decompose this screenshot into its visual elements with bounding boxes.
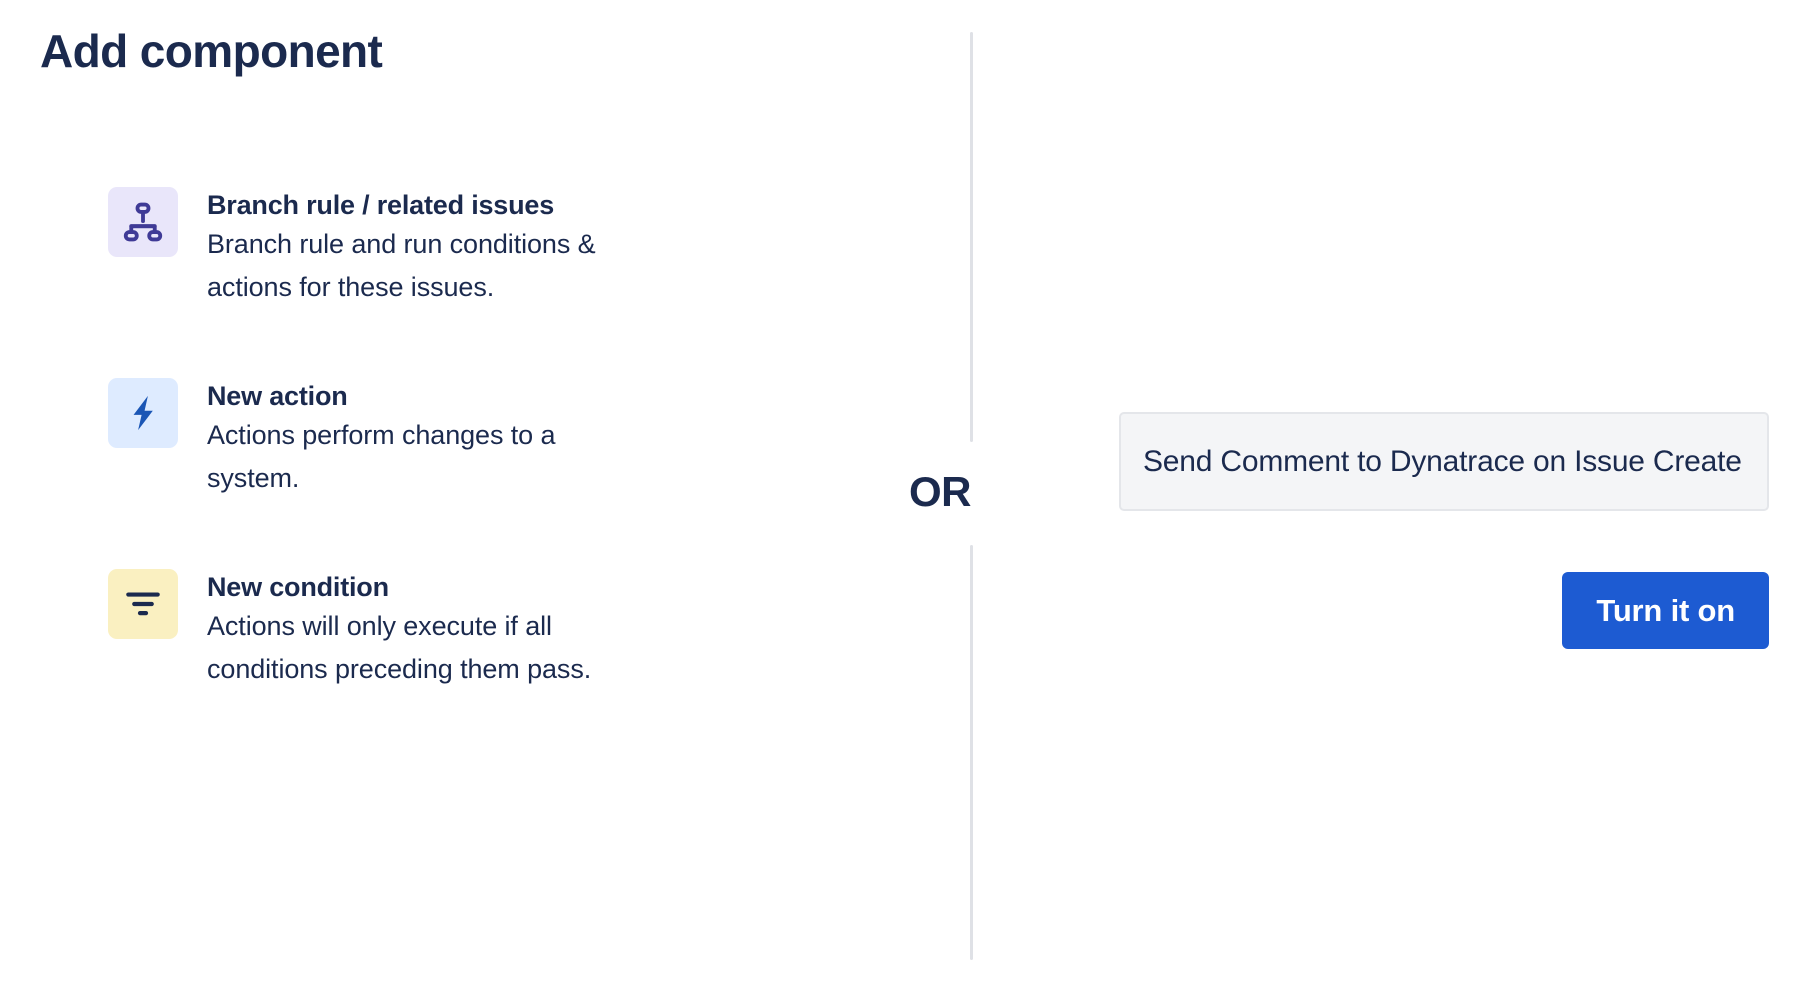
component-option-new-action[interactable]: New action Actions perform changes to a …	[108, 378, 728, 501]
component-option-description: Actions perform changes to a system.	[207, 414, 647, 501]
component-option-description: Branch rule and run conditions & actions…	[207, 223, 667, 310]
component-option-title: Branch rule / related issues	[207, 188, 667, 223]
or-separator-label: OR	[893, 463, 987, 521]
rule-activation-panel: Turn it on	[1119, 412, 1769, 649]
component-option-text: Branch rule / related issues Branch rule…	[207, 187, 667, 310]
component-option-new-condition[interactable]: New condition Actions will only execute …	[108, 569, 728, 692]
button-row: Turn it on	[1119, 572, 1769, 649]
component-option-text: New condition Actions will only execute …	[207, 569, 637, 692]
component-options-list: Branch rule / related issues Branch rule…	[108, 187, 728, 692]
hierarchy-branch-icon	[108, 187, 178, 257]
vertical-divider-top	[970, 32, 973, 442]
filter-funnel-icon	[108, 569, 178, 639]
turn-it-on-button[interactable]: Turn it on	[1562, 572, 1769, 649]
vertical-divider-bottom	[970, 545, 973, 960]
component-option-description: Actions will only execute if all conditi…	[207, 605, 637, 692]
component-option-branch-rule[interactable]: Branch rule / related issues Branch rule…	[108, 187, 728, 310]
component-option-text: New action Actions perform changes to a …	[207, 378, 647, 501]
rule-name-input[interactable]	[1119, 412, 1769, 511]
page-title: Add component	[40, 26, 382, 77]
component-option-title: New condition	[207, 570, 637, 605]
lightning-bolt-icon	[108, 378, 178, 448]
component-option-title: New action	[207, 379, 647, 414]
